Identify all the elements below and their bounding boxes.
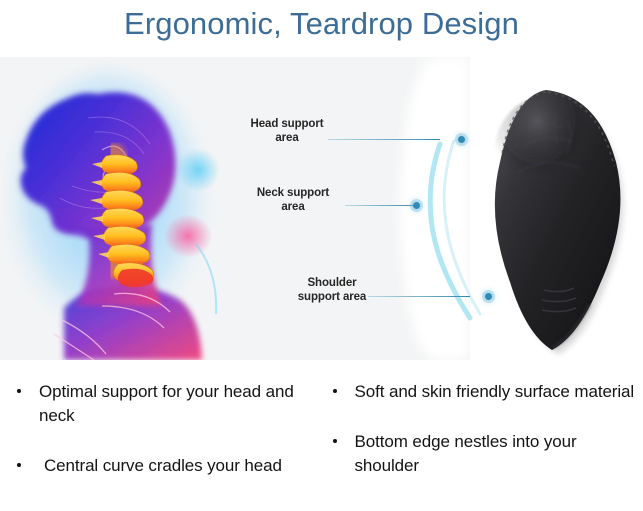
bullet-icon xyxy=(17,389,21,393)
leader-dot-neck-support xyxy=(413,202,420,209)
bullet-icon xyxy=(333,439,337,443)
feature-text: Optimal support for your head and neck xyxy=(39,380,316,428)
leader-dot-head-support xyxy=(458,136,465,143)
callout-shoulder-support: Shoulder support area xyxy=(276,276,388,304)
bullet-icon xyxy=(333,389,337,393)
feature-list-right-column: Soft and skin friendly surface material … xyxy=(322,372,643,511)
callout-shoulder-support-line1: Shoulder xyxy=(276,276,388,290)
black-teardrop-pillow-photo xyxy=(472,76,642,361)
feature-text: Bottom edge nestles into your shoulder xyxy=(355,430,636,478)
leader-line-head-support xyxy=(328,139,440,140)
list-item: Soft and skin friendly surface material xyxy=(328,380,636,404)
callout-head-support-line2: area xyxy=(228,131,346,145)
page-title: Ergonomic, Teardrop Design xyxy=(0,2,643,46)
leader-line-neck-support xyxy=(345,205,417,206)
callout-shoulder-support-line2: support area xyxy=(276,290,388,304)
head-neck-spine-anatomy-illustration xyxy=(2,58,234,360)
callout-neck-support-line2: area xyxy=(238,200,348,214)
feature-text: Soft and skin friendly surface material xyxy=(355,380,635,404)
leader-line-shoulder-support xyxy=(368,296,470,297)
feature-text: Central curve cradles your head xyxy=(39,454,282,478)
list-item: Optimal support for your head and neck xyxy=(12,380,316,428)
callout-head-support: Head support area xyxy=(228,117,346,145)
callout-neck-support: Neck support area xyxy=(238,186,348,214)
feature-list-left-column: Optimal support for your head and neck C… xyxy=(0,372,322,511)
callout-neck-support-line1: Neck support xyxy=(238,186,348,200)
list-item: Bottom edge nestles into your shoulder xyxy=(328,430,636,478)
bullet-icon xyxy=(17,463,21,467)
panel-white-wedge xyxy=(400,57,470,360)
feature-list: Optimal support for your head and neck C… xyxy=(0,372,643,511)
callout-head-support-line1: Head support xyxy=(228,117,346,131)
list-item: Central curve cradles your head xyxy=(12,454,316,478)
